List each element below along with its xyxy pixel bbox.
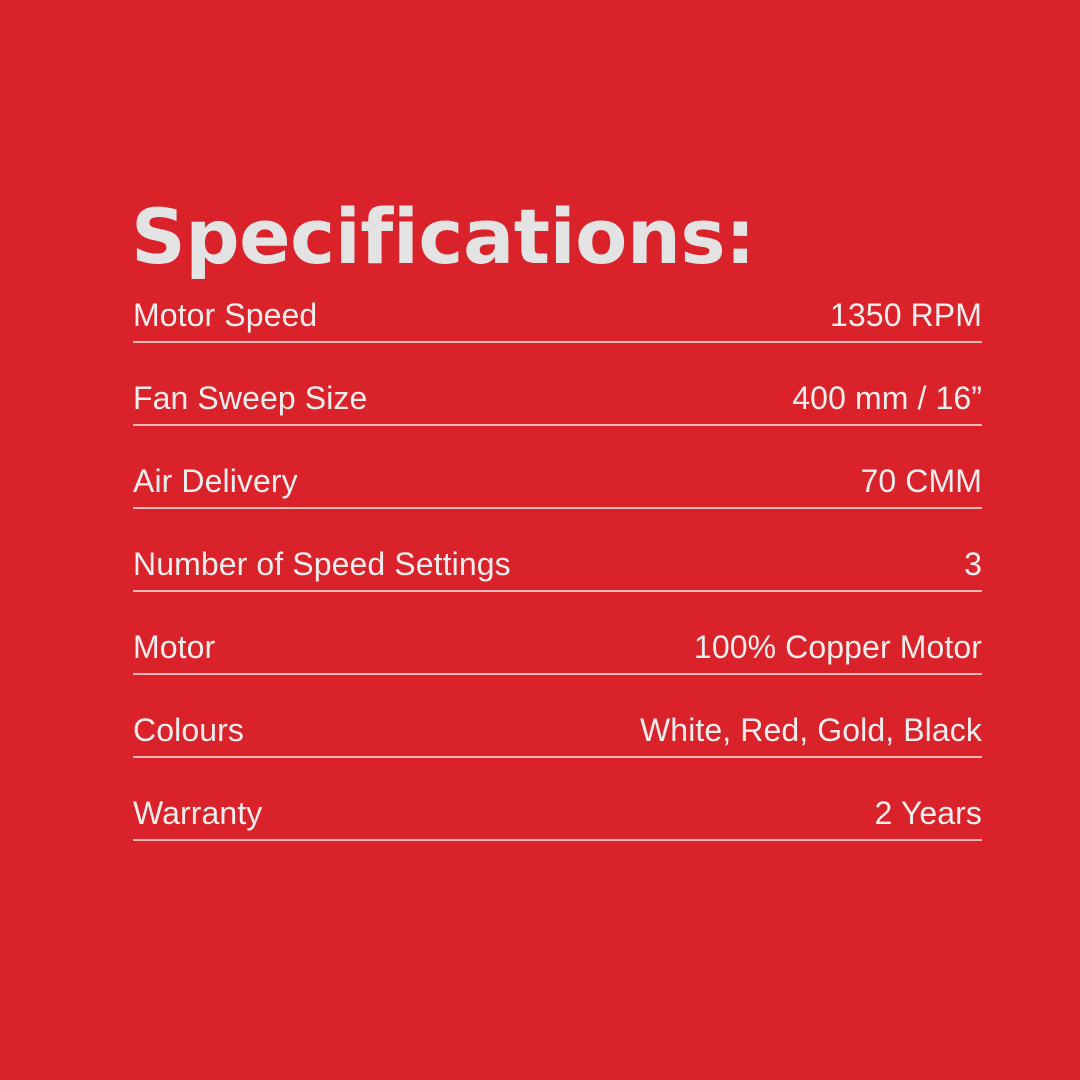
spec-value: 400 mm / 16” — [768, 380, 982, 416]
specifications-table: Motor Speed1350 RPMFan Sweep Size400 mm … — [133, 297, 982, 878]
spec-label: Air Delivery — [133, 463, 298, 499]
spec-value: 70 CMM — [836, 463, 982, 499]
spec-label: Number of Speed Settings — [133, 546, 511, 582]
spec-row: Air Delivery70 CMM — [133, 463, 982, 546]
spec-row: Number of Speed Settings3 — [133, 546, 982, 629]
spec-row: ColoursWhite, Red, Gold, Black — [133, 712, 982, 795]
spec-value: 3 — [940, 546, 982, 582]
spec-value: 1350 RPM — [806, 297, 982, 333]
spec-row: Fan Sweep Size400 mm / 16” — [133, 380, 982, 463]
spec-value: 100% Copper Motor — [670, 629, 982, 665]
spec-row: Warranty2 Years — [133, 795, 982, 878]
specifications-card: Specifications: Motor Speed1350 RPMFan S… — [0, 0, 1080, 1080]
spec-label: Warranty — [133, 795, 262, 831]
spec-label: Colours — [133, 712, 244, 748]
page-title: Specifications: — [131, 194, 991, 279]
spec-label: Fan Sweep Size — [133, 380, 367, 416]
spec-value: White, Red, Gold, Black — [616, 712, 982, 748]
spec-row: Motor Speed1350 RPM — [133, 297, 982, 380]
spec-row: Motor100% Copper Motor — [133, 629, 982, 712]
spec-label: Motor — [133, 629, 215, 665]
spec-value: 2 Years — [851, 795, 982, 831]
spec-label: Motor Speed — [133, 297, 317, 333]
